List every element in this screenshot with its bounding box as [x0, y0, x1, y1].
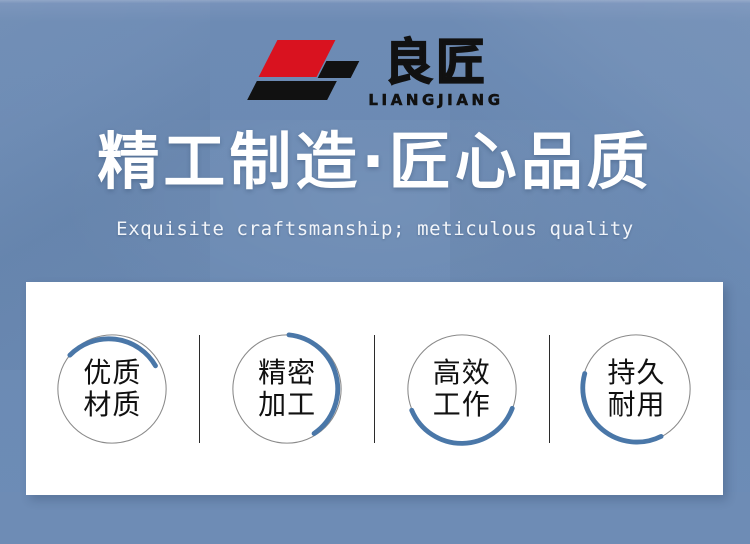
- brand-name-en: LIANGJIANG: [368, 93, 503, 108]
- feature-line2-4: 耐用: [607, 389, 665, 420]
- feature-label-4: 持久 耐用: [607, 357, 665, 420]
- liangjiang-logo-mark-icon: [246, 40, 354, 102]
- brand-logo: 良匠 LIANGJIANG: [0, 38, 750, 118]
- feature-label-1: 优质 材质: [83, 357, 141, 420]
- feature-item-4[interactable]: 持久 耐用: [578, 331, 694, 447]
- feature-item-3[interactable]: 高效 工作: [404, 331, 520, 447]
- logo-small-parallelogram-icon: [318, 61, 360, 78]
- feature-card: 优质 材质 精密 加工: [26, 282, 723, 495]
- background-bottom-band: [0, 492, 750, 544]
- feature-line2-3: 工作: [433, 389, 491, 420]
- logo-black-bar-icon: [248, 81, 338, 100]
- feature-label-2: 精密 加工: [258, 357, 316, 420]
- feature-line2-1: 材质: [83, 389, 141, 420]
- promo-banner: 良匠 LIANGJIANG 精工制造·匠心品质 Exquisite crafts…: [0, 0, 750, 544]
- feature-line2-2: 加工: [258, 389, 316, 420]
- feature-list: 优质 材质 精密 加工: [26, 282, 723, 495]
- hero-subheadline: Exquisite craftsmanship; meticulous qual…: [0, 218, 750, 240]
- background-top-hairline: [0, 0, 750, 3]
- feature-label-3: 高效 工作: [433, 357, 491, 420]
- feature-item-1[interactable]: 优质 材质: [54, 331, 170, 447]
- feature-line1-2: 精密: [258, 357, 316, 388]
- brand-wordmark: 良匠 LIANGJIANG: [368, 38, 503, 108]
- feature-divider-3: [549, 335, 550, 443]
- feature-item-2[interactable]: 精密 加工: [229, 331, 345, 447]
- hero-headline: 精工制造·匠心品质: [0, 127, 750, 196]
- feature-divider-1: [199, 335, 200, 443]
- feature-line1-4: 持久: [607, 357, 665, 388]
- feature-line1-3: 高效: [433, 357, 491, 388]
- brand-name-cn: 良匠: [384, 38, 488, 87]
- feature-line1-1: 优质: [83, 357, 141, 388]
- feature-divider-2: [374, 335, 375, 443]
